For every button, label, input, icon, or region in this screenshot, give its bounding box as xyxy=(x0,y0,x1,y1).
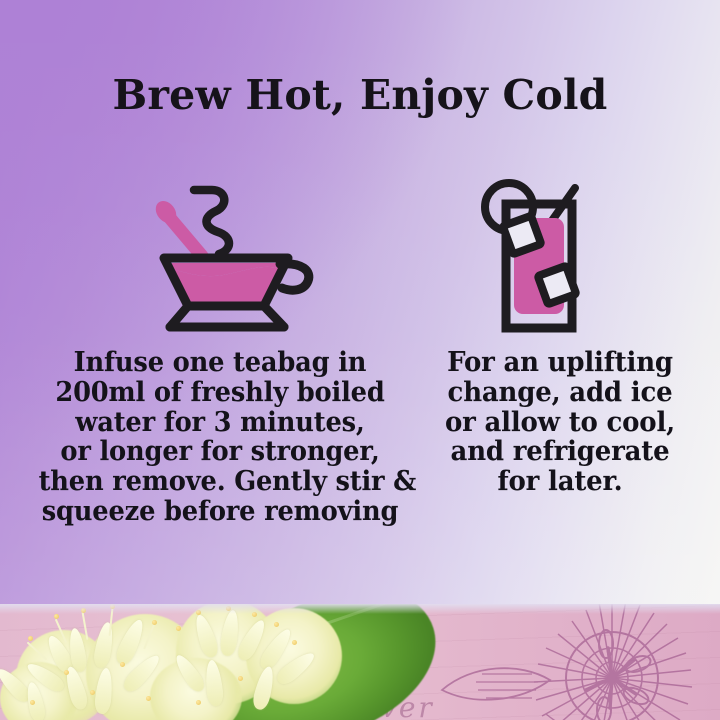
page-title: Brew Hot, Enjoy Cold xyxy=(0,72,720,119)
brew-hot-instructions: Infuse one teabag in 200ml of freshly bo… xyxy=(26,348,414,527)
blossom-anther xyxy=(90,690,95,695)
blossom-anther xyxy=(196,700,201,705)
blossom-anther xyxy=(64,670,69,675)
copy-line: squeeze before removing xyxy=(39,497,402,527)
copy-line: then remove. Gently stir & xyxy=(39,467,402,497)
copy-line: Infuse one teabag in xyxy=(39,348,402,378)
iced-drink-glass-icon xyxy=(478,176,593,336)
blossom-anther xyxy=(152,620,157,625)
blossom-anther xyxy=(274,622,279,627)
poster-canvas: Brew Hot, Enjoy Cold xyxy=(0,0,720,720)
blossom-anther xyxy=(120,662,125,667)
blossom-anther xyxy=(30,700,35,705)
passionflower-engraving xyxy=(416,604,720,720)
enjoy-cold-instructions: For an uplifting change, add ice or allo… xyxy=(424,348,696,497)
copy-line: and refrigerate xyxy=(431,437,688,467)
copy-line: or allow to cool, xyxy=(431,408,688,438)
band-top-feather xyxy=(0,604,720,614)
copy-line: For an uplifting xyxy=(431,348,688,378)
spoon-icon xyxy=(152,197,202,256)
copy-line: or longer for stronger, xyxy=(39,437,402,467)
copy-line: 200ml of freshly boiled xyxy=(39,378,402,408)
blossom-anther xyxy=(176,626,181,631)
blossom-anther xyxy=(28,636,33,641)
blossom-anther xyxy=(146,696,151,701)
ice-cube-icon xyxy=(538,266,576,304)
copy-line: change, add ice xyxy=(431,378,688,408)
linden-blossom-photo-band: ower xyxy=(0,604,720,720)
ice-cube-icon xyxy=(503,216,541,254)
hot-teacup-icon xyxy=(150,178,320,338)
cup-handle-icon xyxy=(280,264,309,290)
blossom-anther xyxy=(292,640,297,645)
copy-line: water for 3 minutes, xyxy=(39,408,402,438)
blossom-anther xyxy=(238,676,243,681)
blossom-anther xyxy=(54,614,59,619)
copy-line: for later. xyxy=(431,467,688,497)
